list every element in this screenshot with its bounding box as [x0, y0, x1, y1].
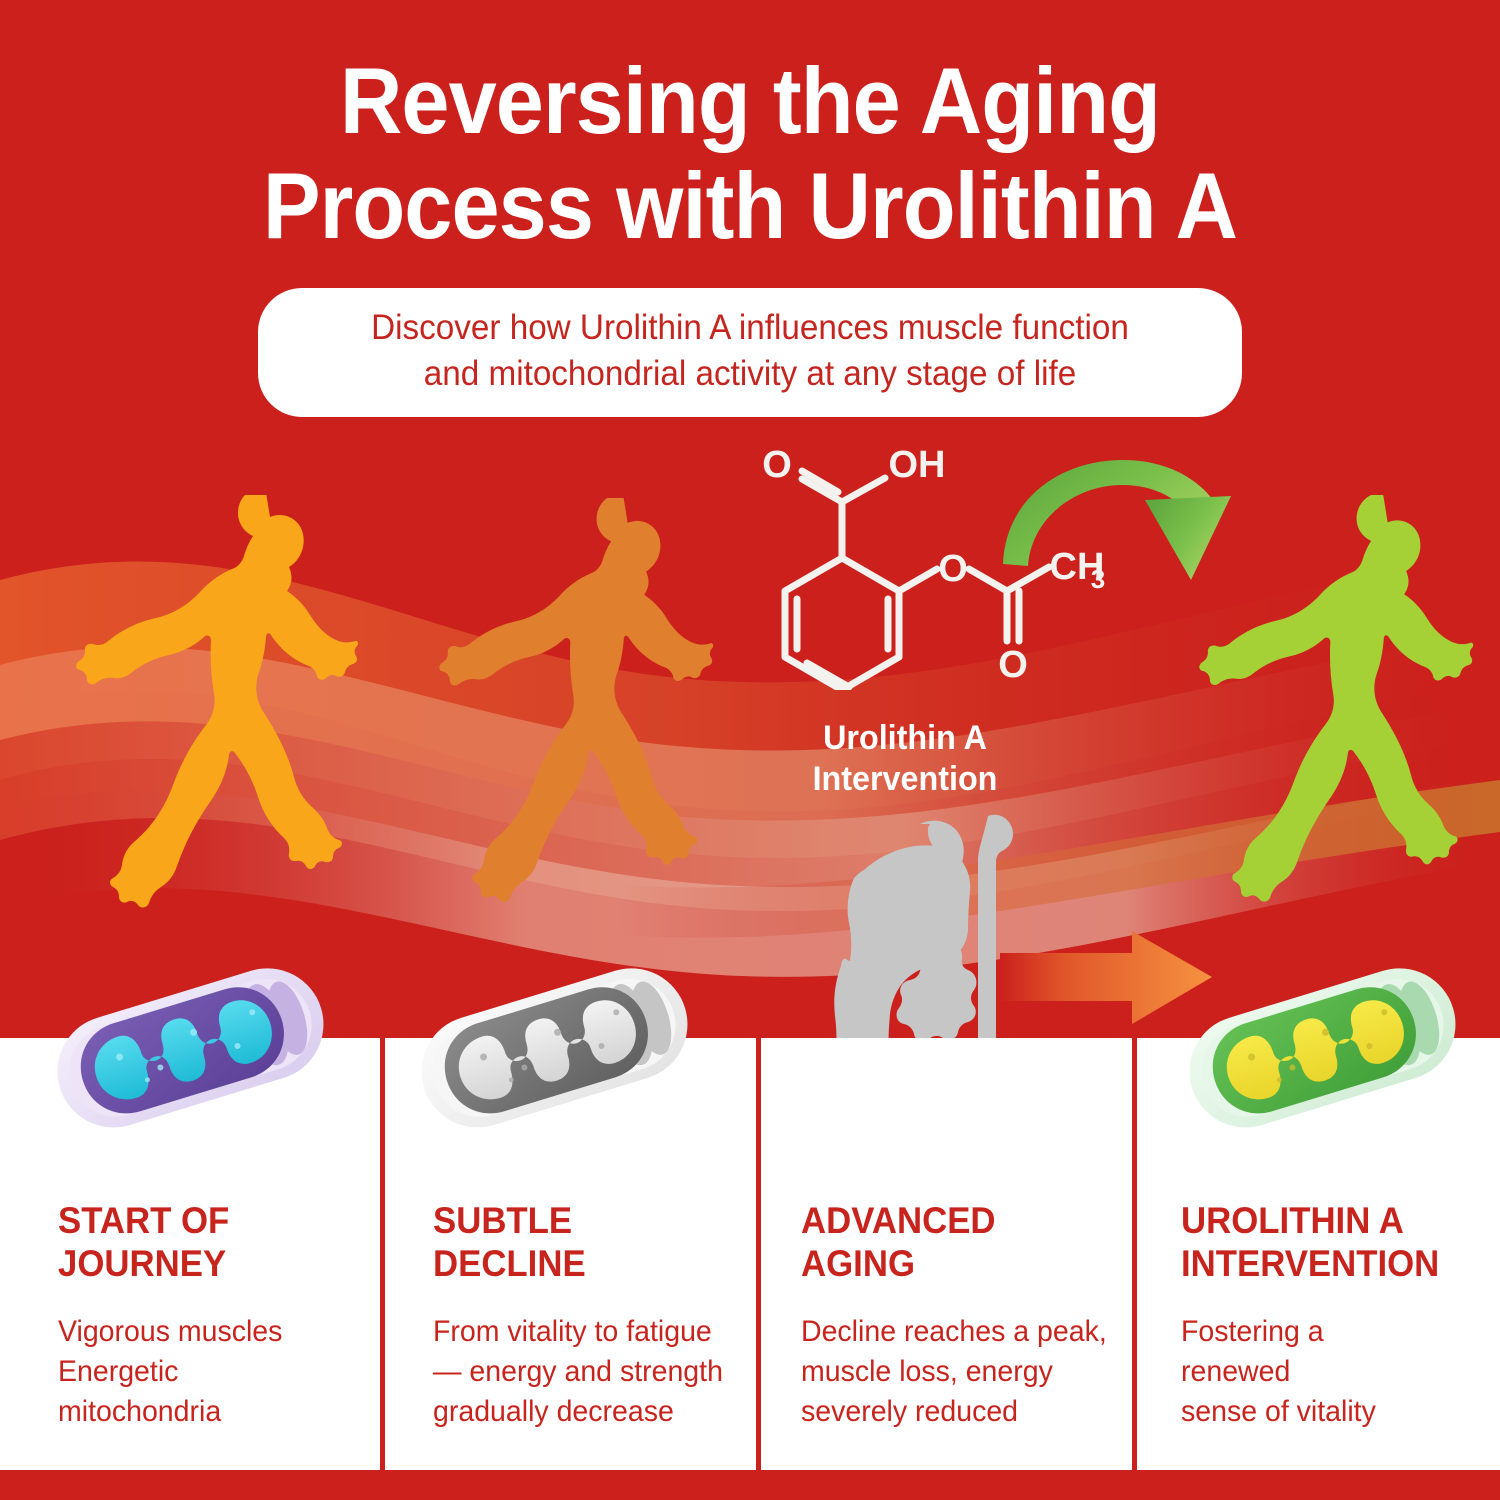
stage-card-body: From vitality to fatigue — energy and st…: [433, 1312, 719, 1432]
stage-body-line-1: Vigorous muscles: [58, 1312, 343, 1352]
stage-card-body: Vigorous muscles Energetic mitochondria: [58, 1312, 343, 1432]
stage-title-line-1: ADVANCED: [801, 1200, 1091, 1243]
stage-body-line-1: Decline reaches a peak,: [801, 1312, 1095, 1352]
runner-start-of-journey: [48, 495, 398, 915]
stage-title-line-2: INTERVENTION: [1181, 1243, 1460, 1286]
molecule-atom-hydroxyl: OH: [889, 445, 946, 486]
title-line-1: Reversing the Aging: [60, 48, 1440, 153]
stage-body-line-3: gradually decrease: [433, 1392, 719, 1432]
mitochondrion-declining-icon: [412, 962, 697, 1134]
molecule-atom-methyl-subscript: 3: [1091, 564, 1105, 594]
subtitle-line-1: Discover how Urolithin A influences musc…: [307, 305, 1192, 351]
molecule-atom-ester-oxygen: O: [938, 548, 968, 590]
stage-card-body: Decline reaches a peak, muscle loss, ene…: [801, 1312, 1095, 1432]
bottom-red-band: [0, 1470, 1500, 1500]
mitochondrion-healthy-icon: [48, 962, 333, 1134]
stage-card-title: START OF JOURNEY: [58, 1200, 340, 1286]
page-title: Reversing the Aging Process with Urolith…: [0, 48, 1500, 259]
stage-title-line-2: JOURNEY: [58, 1243, 340, 1286]
stage-title-line-1: UROLITHIN A: [1181, 1200, 1460, 1243]
stage-card-title: SUBTLE DECLINE: [433, 1200, 716, 1286]
stage-title-line-1: START OF: [58, 1200, 340, 1243]
molecule-label: Urolithin A Intervention: [748, 718, 1062, 801]
stage-card-title: ADVANCED AGING: [801, 1200, 1091, 1286]
runner-subtle-decline: [412, 498, 752, 913]
stage-body-line-3: sense of vitality: [1181, 1392, 1463, 1432]
subtitle-line-2: and mitochondrial activity at any stage …: [307, 351, 1192, 397]
stage-body-line-2: — energy and strength: [433, 1352, 719, 1392]
stage-card-title: UROLITHIN A INTERVENTION: [1181, 1200, 1460, 1286]
mitochondrion-revitalized-icon: [1180, 962, 1465, 1134]
stage-title-line-2: DECLINE: [433, 1243, 716, 1286]
stage-card-body: Fostering a renewed sense of vitality: [1181, 1312, 1463, 1432]
subtitle-banner: Discover how Urolithin A influences musc…: [258, 288, 1242, 417]
stage-body-line-3: mitochondria: [58, 1392, 343, 1432]
molecule-atom-carbonyl-oxygen: O: [762, 445, 792, 486]
infographic-poster: Reversing the Aging Process with Urolith…: [0, 0, 1500, 1500]
chemical-structure-icon: O OH O CH 3 O: [745, 445, 1105, 690]
stage-body-line-1: From vitality to fatigue: [433, 1312, 719, 1352]
stage-body-line-2: renewed: [1181, 1352, 1463, 1392]
stage-title-line-1: SUBTLE: [433, 1200, 716, 1243]
stage-body-line-3: severely reduced: [801, 1392, 1095, 1432]
stage-body-line-2: Energetic: [58, 1352, 343, 1392]
stage-card-advanced-aging[interactable]: ADVANCED AGING Decline reaches a peak, m…: [761, 1038, 1132, 1470]
molecule-label-line-2: Intervention: [748, 759, 1062, 800]
stage-body-line-1: Fostering a: [1181, 1312, 1463, 1352]
molecule-atom-ester-carbonyl-oxygen: O: [998, 644, 1028, 686]
molecule-label-line-1: Urolithin A: [748, 718, 1062, 759]
title-line-2: Process with Urolithin A: [60, 153, 1440, 258]
stage-title-line-2: AGING: [801, 1243, 1091, 1286]
stage-body-line-2: muscle loss, energy: [801, 1352, 1095, 1392]
